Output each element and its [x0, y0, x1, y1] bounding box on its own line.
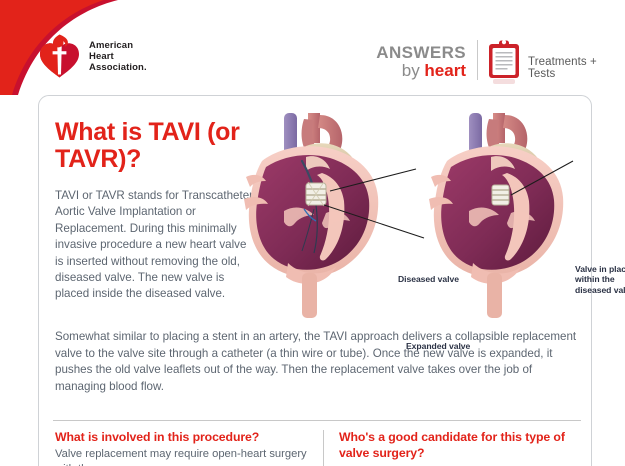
answers-by-heart-wordmark: ANSWERS by heart: [374, 44, 466, 80]
heart-cross-section-diagram: [234, 113, 589, 318]
answers-word: ANSWERS: [374, 44, 466, 61]
by-word: by: [402, 61, 425, 80]
logo-line-1: American: [89, 40, 147, 51]
section-divider: [53, 420, 581, 421]
column-body: Valve replacement may require open-heart…: [55, 447, 313, 466]
column-heading: Who's a good candidate for this type of …: [339, 430, 589, 461]
clipboard-icon: [487, 39, 521, 85]
logo-line-3: Association.: [89, 62, 147, 73]
header-divider: [477, 40, 478, 80]
aha-logo[interactable]: American Heart Association.: [38, 34, 147, 79]
column-heading: What is involved in this procedure?: [55, 430, 313, 446]
heart-word: heart: [424, 61, 466, 80]
aha-heart-torch-icon: [38, 34, 82, 79]
intro-paragraph: TAVI or TAVR stands for Transcatheter Ao…: [55, 188, 255, 303]
content-card: What is TAVI (or TAVR)? TAVI or TAVR sta…: [38, 95, 592, 466]
aha-logo-wordmark: American Heart Association.: [89, 40, 147, 74]
category-label: Treatments + Tests: [528, 56, 625, 80]
column-procedure: What is involved in this procedure? Valv…: [55, 430, 313, 466]
page-header: American Heart Association. ANSWERS by h…: [0, 0, 625, 95]
column-divider: [323, 430, 324, 466]
label-valve-in-place: Valve in place within the diseased valve: [575, 264, 625, 295]
logo-line-2: Heart: [89, 51, 147, 62]
answers-by-heart-page: American Heart Association. ANSWERS by h…: [0, 0, 625, 466]
by-heart-word: by heart: [374, 61, 466, 80]
label-diseased-valve: Diseased valve: [398, 274, 459, 284]
column-candidate: Who's a good candidate for this type of …: [339, 430, 589, 462]
body-paragraph: Somewhat similar to placing a stent in a…: [55, 329, 585, 395]
